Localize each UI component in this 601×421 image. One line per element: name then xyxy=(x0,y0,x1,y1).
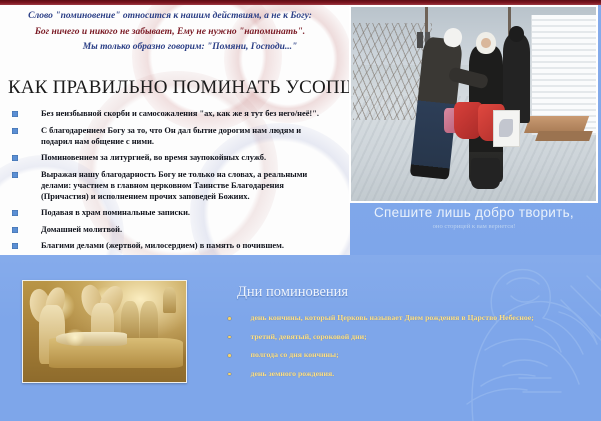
slide-canvas: Слово "поминовение" относится к нашим де… xyxy=(0,0,601,421)
list-item-label: Благими делами (жертвой, милосердием) в … xyxy=(41,240,333,251)
square-bullet-icon xyxy=(12,243,18,249)
days-list-item: день кончины, который Церковь называет Д… xyxy=(228,313,588,323)
days-list-item: полгода со дня кончины; xyxy=(228,350,588,360)
days-list: день кончины, который Церковь называет Д… xyxy=(228,313,588,387)
list-item-label: Выражая нашу благодарность Богу не тольк… xyxy=(41,169,333,202)
list-item: Благими делами (жертвой, милосердием) в … xyxy=(12,240,342,251)
round-bullet-icon xyxy=(228,336,231,339)
days-list-item-label: полгода со дня кончины; xyxy=(251,350,339,360)
page-title: КАК ПРАВИЛЬНО ПОМИНАТЬ УСОПШИХ? xyxy=(8,77,396,99)
icon-mourner-3 xyxy=(163,287,176,313)
photo-distant-figure-1 xyxy=(417,32,423,48)
photo-winter-boots xyxy=(471,158,500,189)
epigraph-line-2: Бог ничего и никого не забывает, Ему не … xyxy=(0,25,340,41)
days-list-item-label: день кончины, который Церковь называет Д… xyxy=(251,313,534,323)
list-item-label: Домашней молитвой. xyxy=(41,224,333,235)
list-item-label: Без неизбывной скорби и самосожаления "а… xyxy=(41,108,333,119)
square-bullet-icon xyxy=(12,111,18,117)
list-item: Выражая нашу благодарность Богу не тольк… xyxy=(12,169,342,202)
square-bullet-icon xyxy=(12,210,18,216)
epigraph-line-1: Слово "поминовение" относится к нашим де… xyxy=(0,9,340,25)
days-section-title: Дни поминовения xyxy=(237,283,348,301)
icon-halo-reposed xyxy=(65,329,85,345)
sepia-icon-content xyxy=(23,281,186,382)
days-list-item: день земного рождения. xyxy=(228,369,588,379)
list-item: Подавая в храм поминальные записки. xyxy=(12,207,342,218)
photo-caption-sub: оно сторицей к вам вернется! xyxy=(349,222,599,231)
square-bullet-icon xyxy=(12,172,18,178)
days-list-item: третий, девятый, сороковой дни; xyxy=(228,332,588,342)
list-item: С благодарением Богу за то, что Он дал б… xyxy=(12,125,342,147)
photo-caption: Спешите лишь добро творить, оно сторицей… xyxy=(349,205,599,231)
days-list-item-label: третий, девятый, сороковой дни; xyxy=(251,332,367,342)
square-bullet-icon xyxy=(12,227,18,233)
square-bullet-icon xyxy=(12,128,18,134)
photo-bystander-head xyxy=(509,26,524,42)
winter-charity-photo xyxy=(349,5,598,203)
round-bullet-icon xyxy=(228,354,231,357)
photo-white-shopping-bag xyxy=(493,110,520,147)
photo-content xyxy=(351,7,596,201)
square-bullet-icon xyxy=(12,155,18,161)
top-accent-rule xyxy=(0,0,601,5)
list-item-label: С благодарением Богу за то, что Он дал б… xyxy=(41,125,333,147)
epigraph-line-3: Мы только образно говорим: "Помяни, Госп… xyxy=(0,40,340,56)
list-item-label: Поминовением за литургией, во время зауп… xyxy=(41,152,333,163)
photo-elderly-woman-face xyxy=(481,38,490,48)
days-list-item-label: день земного рождения. xyxy=(251,369,335,379)
practices-list: Без неизбывной скорби и самосожаления "а… xyxy=(12,108,342,257)
round-bullet-icon xyxy=(228,373,231,376)
list-item: Поминовением за литургией, во время зауп… xyxy=(12,152,342,163)
round-bullet-icon xyxy=(228,317,231,320)
list-item: Домашней молитвой. xyxy=(12,224,342,235)
angels-at-deathbed-icon xyxy=(22,280,187,383)
list-item-label: Подавая в храм поминальные записки. xyxy=(41,207,333,218)
list-item: Без неизбывной скорби и самосожаления "а… xyxy=(12,108,342,119)
epigraph: Слово "поминовение" относится к нашим де… xyxy=(0,9,340,56)
photo-bench-lower xyxy=(535,131,592,141)
photo-caption-main: Спешите лишь добро творить, xyxy=(349,205,599,221)
